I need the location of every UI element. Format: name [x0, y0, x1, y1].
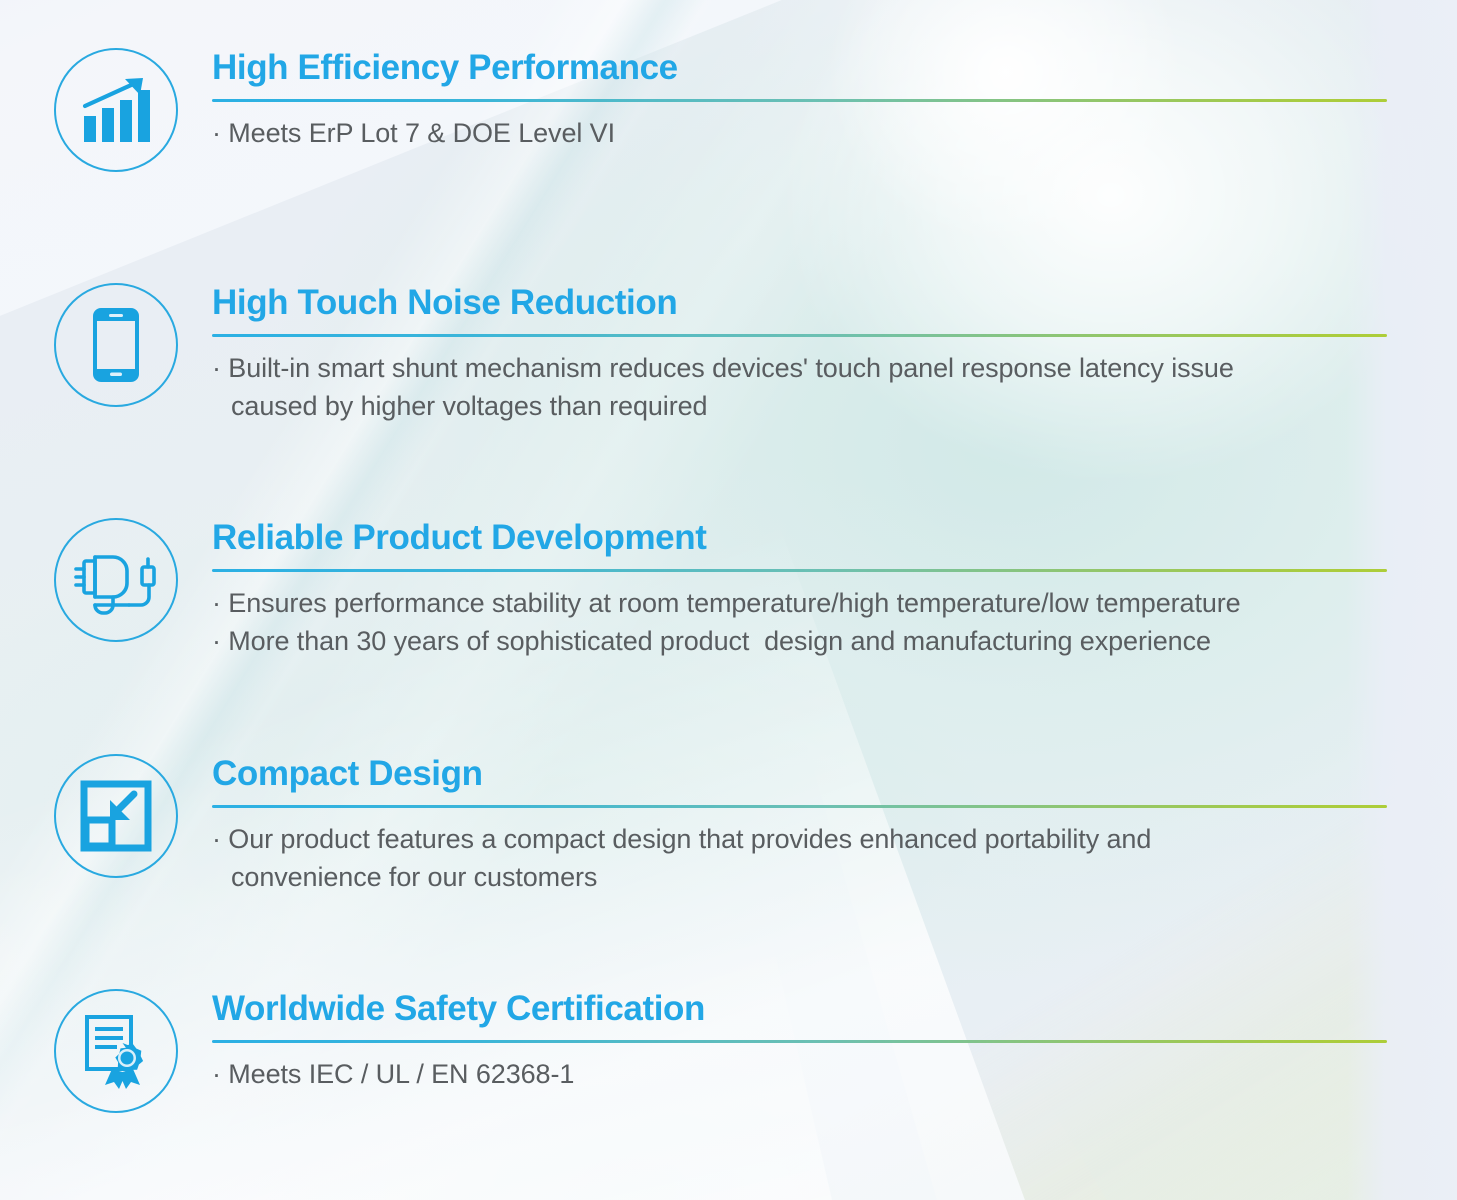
smartphone-icon: [54, 283, 178, 407]
feature-divider: [212, 1040, 1387, 1043]
feature-title: Reliable Product Development: [212, 520, 1387, 556]
feature-line: convenience for our customers: [212, 859, 1387, 897]
feature-line: · Ensures performance stability at room …: [212, 585, 1387, 623]
feature-item-high-touch-noise-reduction: High Touch Noise Reduction · Built-in sm…: [54, 281, 1387, 426]
feature-list: High Efficiency Performance · Meets ErP …: [0, 0, 1457, 1200]
feature-line: · Our product features a compact design …: [212, 821, 1387, 859]
feature-line: caused by higher voltages than required: [212, 388, 1387, 426]
feature-body: Worldwide Safety Certification · Meets I…: [212, 987, 1387, 1094]
feature-line: · Meets ErP Lot 7 & DOE Level VI: [212, 115, 1387, 153]
feature-body: Reliable Product Development · Ensures p…: [212, 516, 1387, 661]
feature-line: · More than 30 years of sophisticated pr…: [212, 623, 1387, 661]
feature-line: · Built-in smart shunt mechanism reduces…: [212, 350, 1387, 388]
feature-lines: · Meets ErP Lot 7 & DOE Level VI: [212, 115, 1387, 153]
feature-body: High Touch Noise Reduction · Built-in sm…: [212, 281, 1387, 426]
feature-divider: [212, 569, 1387, 572]
feature-lines: · Our product features a compact design …: [212, 821, 1387, 897]
feature-divider: [212, 99, 1387, 102]
feature-divider: [212, 334, 1387, 337]
compact-resize-icon: [54, 754, 178, 878]
feature-line: · Meets IEC / UL / EN 62368-1: [212, 1056, 1387, 1094]
feature-divider: [212, 805, 1387, 808]
power-adapter-icon: [54, 518, 178, 642]
feature-title: High Touch Noise Reduction: [212, 285, 1387, 321]
feature-lines: · Meets IEC / UL / EN 62368-1: [212, 1056, 1387, 1094]
feature-item-high-efficiency-performance: High Efficiency Performance · Meets ErP …: [54, 46, 1387, 172]
feature-title: High Efficiency Performance: [212, 50, 1387, 86]
bar-chart-growth-icon: [54, 48, 178, 172]
feature-lines: · Ensures performance stability at room …: [212, 585, 1387, 661]
feature-item-compact-design: Compact Design · Our product features a …: [54, 752, 1387, 897]
feature-title: Compact Design: [212, 756, 1387, 792]
certificate-seal-icon: [54, 989, 178, 1113]
feature-lines: · Built-in smart shunt mechanism reduces…: [212, 350, 1387, 426]
feature-item-worldwide-safety-certification: Worldwide Safety Certification · Meets I…: [54, 987, 1387, 1113]
feature-body: Compact Design · Our product features a …: [212, 752, 1387, 897]
feature-body: High Efficiency Performance · Meets ErP …: [212, 46, 1387, 153]
feature-title: Worldwide Safety Certification: [212, 991, 1387, 1027]
feature-item-reliable-product-development: Reliable Product Development · Ensures p…: [54, 516, 1387, 661]
